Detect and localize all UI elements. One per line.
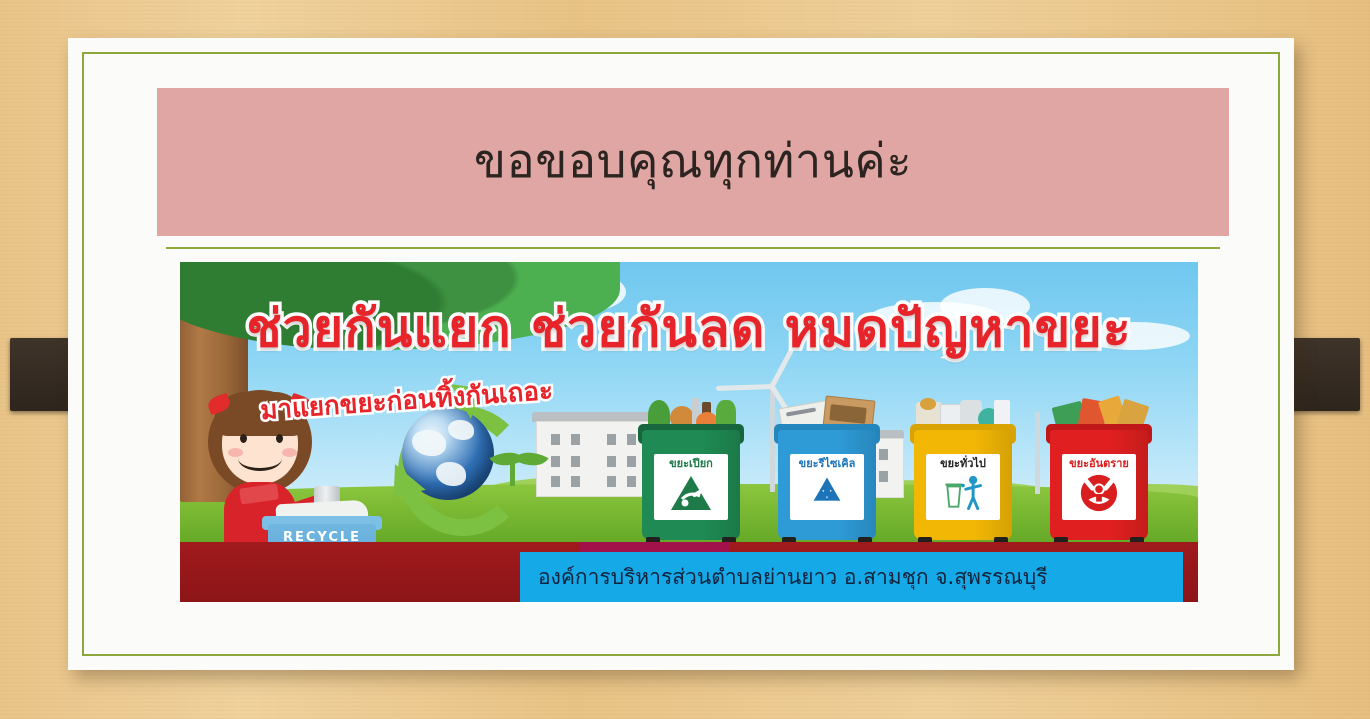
- bin-wet-waste: ขยะเปียก: [638, 412, 744, 540]
- bin-recyclable: ขยะรีไซเคิล: [774, 412, 880, 540]
- snack: [920, 398, 936, 410]
- general-waste-symbol-icon: [940, 473, 986, 511]
- banner-footer-bar: องค์การบริหารส่วนตำบลย่านยาว อ.สามชุก จ.…: [520, 552, 1183, 602]
- continent: [412, 430, 446, 456]
- windmill-icon: [1035, 412, 1040, 494]
- window: [627, 434, 636, 445]
- girl-eye: [276, 434, 283, 443]
- bin-sign: ขยะเปียก: [654, 454, 728, 520]
- hazard-symbol-icon: [1077, 473, 1121, 513]
- windmill-blade: [716, 384, 772, 391]
- window: [571, 456, 580, 467]
- window: [551, 456, 560, 467]
- sprout-stem: [510, 462, 515, 486]
- slide-root: ขอขอบคุณทุกท่านค่ะ: [0, 0, 1370, 719]
- window: [879, 449, 888, 460]
- title-divider: [166, 247, 1220, 249]
- bin-hazardous-waste: ขยะอันตราย: [1046, 412, 1152, 540]
- continent: [448, 420, 474, 440]
- bin-sign: ขยะอันตราย: [1062, 454, 1136, 520]
- continent: [436, 462, 466, 486]
- window: [551, 476, 560, 487]
- window: [607, 476, 616, 487]
- window: [551, 434, 560, 445]
- building: [536, 421, 650, 497]
- window: [607, 456, 616, 467]
- recycle-symbol-icon: [805, 473, 849, 513]
- banner-headline: ช่วยกันแยก ช่วยกันลด หมดปัญหาขยะ: [180, 286, 1198, 369]
- bin-label: ขยะอันตราย: [1069, 458, 1129, 470]
- bin-label: ขยะเปียก: [669, 458, 713, 470]
- wet-waste-symbol-icon: [668, 473, 714, 513]
- window: [627, 476, 636, 487]
- window: [571, 476, 580, 487]
- bin-sign: ขยะทั่วไป: [926, 454, 1000, 520]
- girl-eye: [240, 434, 247, 443]
- window: [571, 434, 580, 445]
- window: [627, 456, 636, 467]
- recycling-banner-image: RECYCLE ขยะเปียก: [180, 262, 1198, 602]
- page-title: ขอขอบคุณทุกท่านค่ะ: [474, 135, 912, 189]
- window: [607, 434, 616, 445]
- window: [879, 471, 888, 482]
- girl-smile: [238, 446, 282, 471]
- bin-sign: ขยะรีไซเคิล: [790, 454, 864, 520]
- bin-label: ขยะทั่วไป: [940, 458, 986, 470]
- girl-cheek: [282, 448, 297, 457]
- bin-label: ขยะรีไซเคิล: [799, 458, 856, 470]
- bin-general-waste: ขยะทั่วไป: [910, 412, 1016, 540]
- organization-name: องค์การบริหารส่วนตำบลย่านยาว อ.สามชุก จ.…: [538, 561, 1048, 594]
- title-banner: ขอขอบคุณทุกท่านค่ะ: [157, 88, 1229, 236]
